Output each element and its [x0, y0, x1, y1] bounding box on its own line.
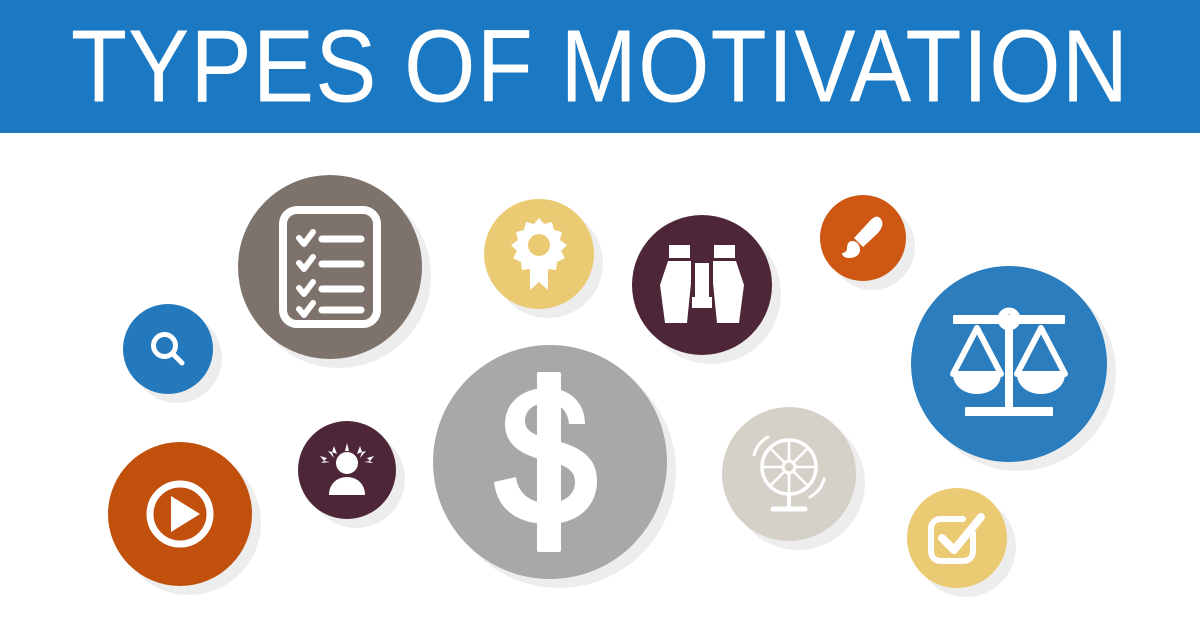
bubble-stress[interactable] [298, 421, 396, 519]
paint-brush-icon [840, 215, 886, 261]
bubble-play[interactable] [108, 442, 252, 586]
balance-scales-icon [947, 306, 1071, 422]
play-button-icon [144, 478, 216, 550]
spinning-wheel-icon [745, 430, 833, 518]
binoculars-icon [659, 245, 745, 325]
bubble-award[interactable] [484, 199, 594, 309]
checklist-clipboard-icon [278, 205, 382, 329]
page-title: TYPES OF MOTIVATION [71, 15, 1129, 118]
dollar-sign-icon [489, 372, 611, 552]
bubble-scales[interactable] [911, 266, 1107, 462]
bubble-brush[interactable] [820, 195, 906, 281]
bubble-money[interactable] [433, 345, 667, 579]
page-title-light: TYPES OF [71, 9, 561, 123]
icon-bubble-layer [0, 133, 1200, 630]
bubble-search[interactable] [123, 304, 213, 394]
bubble-binoculars[interactable] [632, 215, 772, 355]
bubble-wheel[interactable] [722, 407, 856, 541]
magnifier-icon [146, 327, 190, 371]
checkbox-checked-icon [929, 511, 985, 565]
infographic-canvas: TYPES OF MOTIVATION [0, 0, 1200, 630]
award-ribbon-icon [508, 217, 570, 291]
stressed-person-icon [318, 443, 376, 497]
page-title-strong: MOTIVATION [560, 9, 1129, 123]
bubble-checkbox[interactable] [907, 488, 1007, 588]
bubble-checklist[interactable] [238, 175, 422, 359]
header-band: TYPES OF MOTIVATION [0, 0, 1200, 133]
